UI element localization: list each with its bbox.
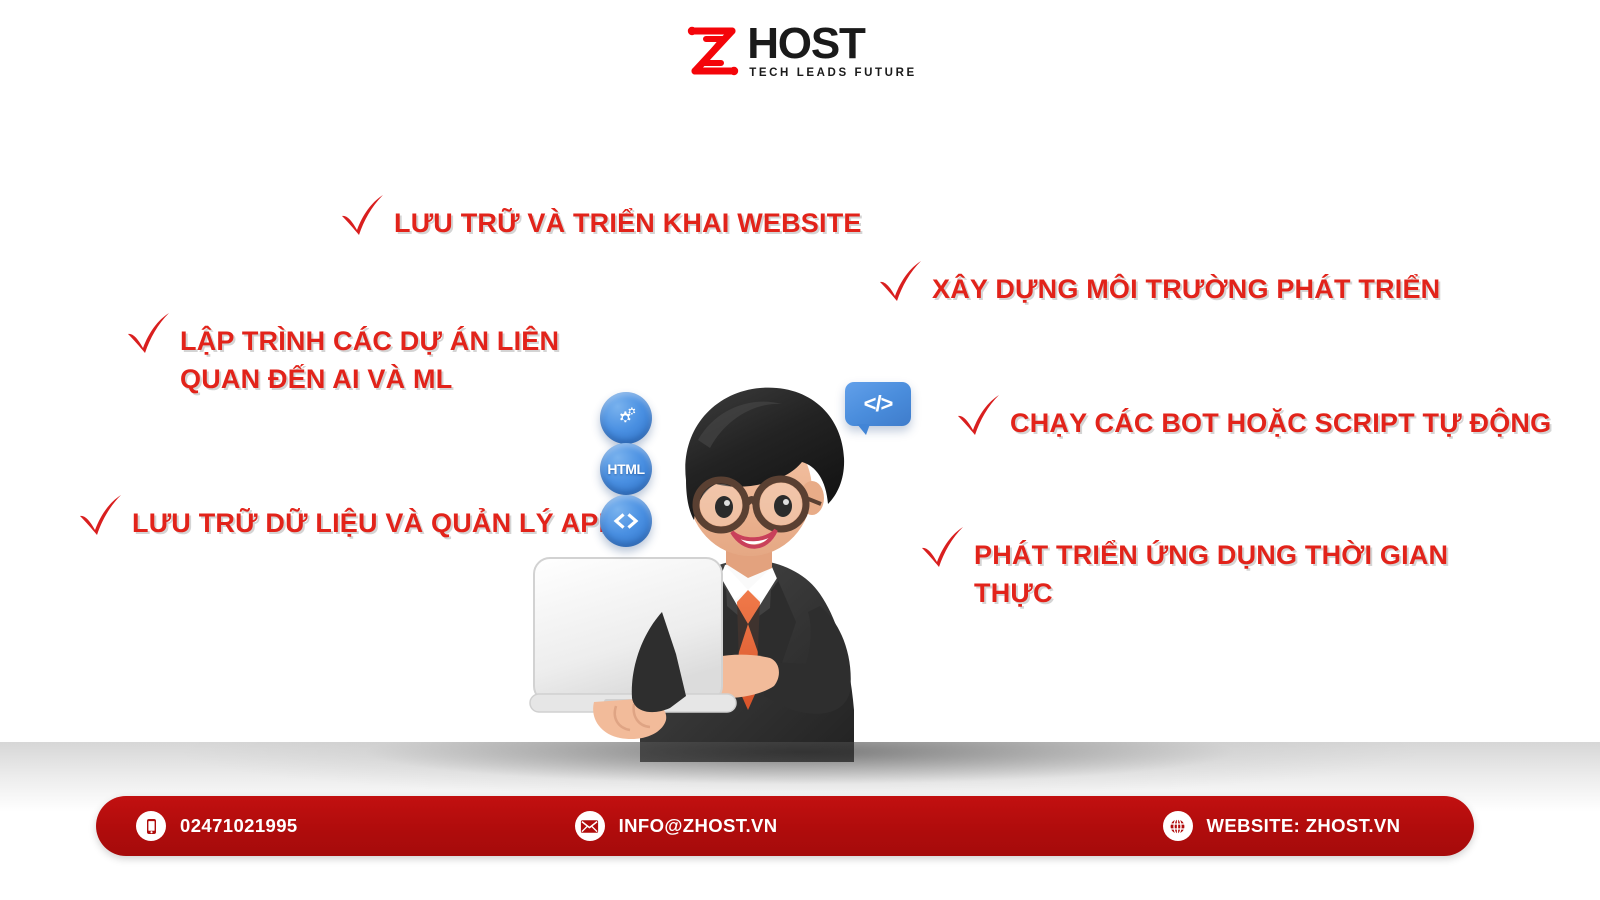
- website-label: WEBSITE: ZHOST.VN: [1207, 815, 1401, 837]
- phone-icon: [136, 811, 166, 841]
- feature-item-hosting-deploy: LƯU TRỮ VÀ TRIỂN KHAI WEBSITE: [336, 196, 862, 242]
- code-bubble-label: </>: [864, 391, 893, 417]
- feature-label: CHẠY CÁC BOT HOẶC SCRIPT TỰ ĐỘNG: [1010, 396, 1551, 442]
- check-icon: [336, 190, 388, 242]
- brand-name: HOST: [747, 24, 864, 64]
- check-icon: [74, 490, 126, 542]
- z-monogram-icon: [683, 22, 743, 80]
- check-icon: [874, 256, 926, 308]
- code-brackets-icon: [600, 495, 652, 547]
- feature-item-bots-scripts: CHẠY CÁC BOT HOẶC SCRIPT TỰ ĐỘNG: [952, 396, 1551, 442]
- contact-website[interactable]: WEBSITE: ZHOST.VN: [1163, 811, 1401, 841]
- feature-item-ai-ml-projects: LẬP TRÌNH CÁC DỰ ÁN LIÊN QUAN ĐẾN AI VÀ …: [122, 314, 559, 399]
- contact-phone[interactable]: 02471021995: [136, 811, 298, 841]
- email-label: INFO@ZHOST.VN: [619, 815, 778, 837]
- check-icon: [122, 308, 174, 360]
- brand-tagline: TECH LEADS FUTURE: [749, 67, 917, 79]
- gears-icon: [600, 392, 652, 444]
- phone-label: 02471021995: [180, 815, 298, 837]
- feature-label: XÂY DỰNG MÔI TRƯỜNG PHÁT TRIỂN: [932, 262, 1440, 308]
- html-label: HTML: [607, 461, 644, 477]
- envelope-icon: [575, 811, 605, 841]
- feature-item-dev-environment: XÂY DỰNG MÔI TRƯỜNG PHÁT TRIỂN: [874, 262, 1440, 308]
- infographic-canvas: HOST TECH LEADS FUTURE LƯU TRỮ VÀ TRIỂN …: [0, 0, 1600, 900]
- feature-label: LƯU TRỮ VÀ TRIỂN KHAI WEBSITE: [394, 196, 862, 242]
- brand-logo: HOST TECH LEADS FUTURE: [0, 22, 1600, 80]
- code-speech-bubble-icon: </>: [845, 382, 911, 426]
- check-icon: [952, 390, 1004, 442]
- feature-label: PHÁT TRIỂN ỨNG DỤNG THỜI GIAN THỰC: [974, 528, 1448, 613]
- feature-item-realtime-apps: PHÁT TRIỂN ỨNG DỤNG THỜI GIAN THỰC: [916, 528, 1448, 613]
- contact-footer-bar: 02471021995 INFO@ZHOST.VN: [96, 796, 1474, 856]
- html-badge-icon: HTML: [600, 443, 652, 495]
- contact-email[interactable]: INFO@ZHOST.VN: [575, 811, 778, 841]
- feature-label: LẬP TRÌNH CÁC DỰ ÁN LIÊN QUAN ĐẾN AI VÀ …: [180, 314, 559, 399]
- globe-icon: [1163, 811, 1193, 841]
